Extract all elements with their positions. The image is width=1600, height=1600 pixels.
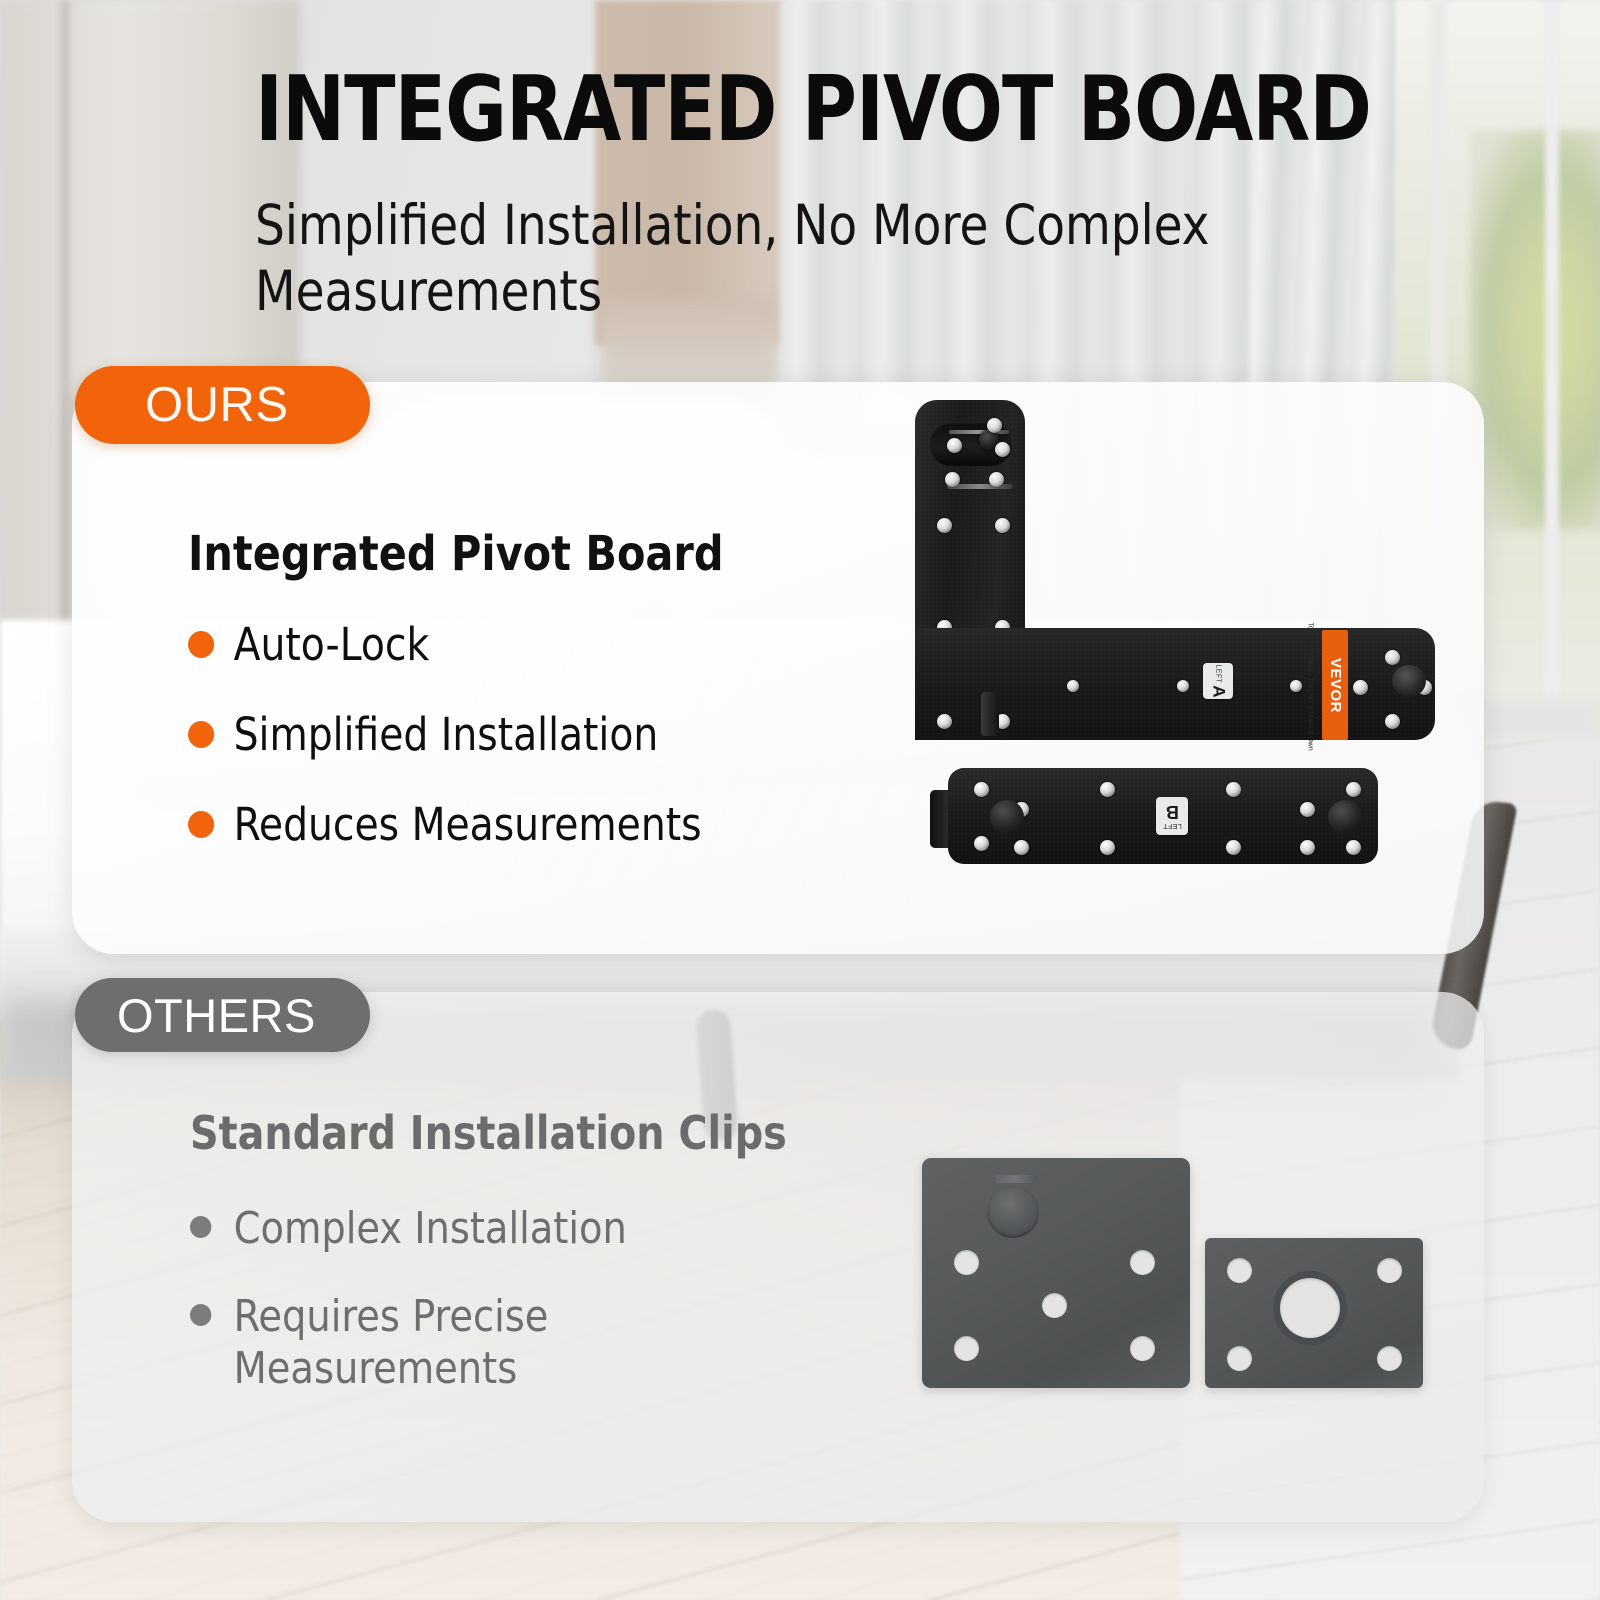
hole [1300, 802, 1315, 817]
hole [995, 442, 1010, 457]
hole [945, 472, 960, 487]
clip-retainer-icon [995, 1175, 1037, 1183]
hole [1385, 650, 1400, 665]
ours-content: Integrated Pivot Board Auto-Lock Simplif… [188, 525, 908, 889]
hole [974, 836, 989, 851]
ours-bullet-label: Auto-Lock [234, 618, 430, 671]
hole [1377, 1346, 1402, 1371]
ours-badge-label: OURS [75, 377, 289, 433]
hole [1226, 782, 1241, 797]
others-bullet-label: Complex Installation [234, 1203, 627, 1254]
hole [1385, 714, 1400, 729]
locking-tab [981, 692, 999, 736]
bullet-dot-icon [188, 811, 214, 838]
hole [1100, 840, 1115, 855]
bullet-dot-icon [188, 721, 214, 748]
hole [974, 782, 989, 797]
ours-bullet-label: Reduces Measurements [234, 798, 702, 851]
ours-heading: Integrated Pivot Board [188, 525, 879, 583]
bullet-dot-icon [190, 1216, 211, 1238]
part-label-a: LEFT A [1203, 663, 1233, 699]
page-title: INTEGRATED PIVOT BOARD [255, 66, 1464, 154]
hole [1227, 1346, 1252, 1371]
pivot-boss-b-right [1328, 800, 1362, 834]
list-item: Auto-Lock [188, 619, 886, 671]
others-heading: Standard Installation Clips [190, 1105, 920, 1161]
hole [1177, 680, 1189, 692]
others-content: Standard Installation Clips Complex Inst… [190, 1105, 950, 1431]
page-subtitle: Simplified Installation, No More Complex… [255, 192, 1291, 324]
hole [1300, 840, 1315, 855]
hole [1346, 840, 1361, 855]
hole [954, 1336, 979, 1361]
bullet-dot-icon [188, 631, 214, 658]
ours-badge: OURS [75, 366, 370, 444]
hole [1130, 1250, 1155, 1275]
hole [1014, 840, 1029, 855]
others-badge: OTHERS [75, 978, 370, 1052]
hole [1067, 680, 1079, 692]
part-label-a-letter: A [1208, 685, 1228, 697]
clip-center-bore [1280, 1278, 1340, 1338]
others-drawback-list: Complex Installation Requires Precise Me… [190, 1203, 950, 1395]
vevor-brand-sticker: VEVOR [1322, 630, 1348, 740]
list-item: Complex Installation [190, 1203, 927, 1255]
hole [1346, 782, 1361, 797]
bullet-dot-icon [190, 1304, 211, 1326]
l-bracket [915, 400, 1435, 740]
hole [937, 714, 952, 729]
hole [954, 1250, 979, 1275]
ours-bullet-label: Simplified Installation [234, 708, 659, 761]
hole [987, 418, 1002, 433]
hole [1042, 1293, 1067, 1318]
hole [937, 518, 952, 533]
hole [1353, 680, 1368, 695]
others-badge-label: OTHERS [75, 988, 316, 1043]
part-label-b: LEFT B [1156, 797, 1188, 835]
vevor-brand-text: VEVOR [1327, 657, 1344, 712]
pivot-boss-b-left [990, 800, 1024, 834]
hole [1227, 1258, 1252, 1283]
bg-window-frame-right [1545, 0, 1559, 720]
hole [1100, 782, 1115, 797]
hole [1377, 1258, 1402, 1283]
hole [1226, 840, 1241, 855]
hole [1130, 1336, 1155, 1361]
infographic-canvas: INTEGRATED PIVOT BOARD Simplified Instal… [0, 0, 1600, 1600]
vevor-tagline: Tools Built Mean. Tougher & Make It Own [1301, 640, 1319, 732]
hole [989, 472, 1004, 487]
part-label-b-letter: B [1166, 803, 1179, 821]
part-label-a-side: LEFT [1215, 665, 1222, 684]
ours-feature-list: Auto-Lock Simplified Installation Reduce… [188, 619, 908, 851]
clip-square-plate [922, 1158, 1190, 1388]
list-item: Simplified Installation [188, 709, 886, 761]
bg-window-foliage [1470, 130, 1600, 530]
clip-knob-icon [987, 1186, 1039, 1238]
list-item: Requires Precise Measurements [190, 1291, 690, 1395]
list-item: Reduces Measurements [188, 799, 886, 851]
hole [947, 438, 962, 453]
others-bullet-label: Requires Precise Measurements [234, 1291, 549, 1394]
hole [995, 518, 1010, 533]
pivot-knob-a [1392, 665, 1426, 697]
